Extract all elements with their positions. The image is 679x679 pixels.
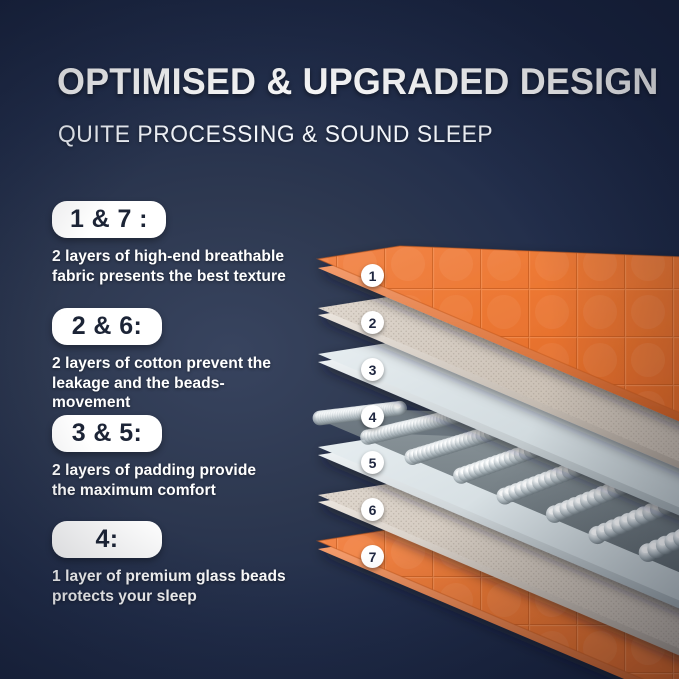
layer-description-4: 1 layer of premium glass beads protects …: [52, 567, 286, 606]
layer-label-pill-3: 3 & 5:: [52, 415, 162, 452]
layer-label-pill-1: 1 & 7 :: [52, 201, 166, 238]
layer-number-badge-4: 4: [361, 405, 384, 428]
page-subtitle: QUITE PROCESSING & SOUND SLEEP: [58, 120, 493, 150]
layer-label-pill-2: 2 & 6:: [52, 308, 162, 345]
layer-label-pill-4: 4:: [52, 521, 162, 558]
infographic-canvas: OPTIMISED & UPGRADED DESIGN QUITE PROCES…: [0, 0, 679, 679]
layer-description-2: 2 layers of cotton prevent the leakage a…: [52, 354, 302, 413]
layer-label-text: 4:: [95, 525, 118, 554]
layer-label-text: 3 & 5:: [72, 419, 142, 448]
layer-number-badge-6: 6: [361, 498, 384, 521]
layer-description-1: 2 layers of high-end breathable fabric p…: [52, 247, 286, 286]
layer-number-badge-5: 5: [361, 451, 384, 474]
info-block-1: 1 & 7 :2 layers of high-end breathable f…: [52, 201, 286, 286]
layer-label-text: 2 & 6:: [72, 312, 142, 341]
layer-number-badge-1: 1: [361, 264, 384, 287]
layer-number-badge-2: 2: [361, 311, 384, 334]
info-block-3: 3 & 5:2 layers of padding provide the ma…: [52, 415, 256, 500]
info-block-2: 2 & 6:2 layers of cotton prevent the lea…: [52, 308, 302, 413]
layer-number-badge-7: 7: [361, 545, 384, 568]
page-title: OPTIMISED & UPGRADED DESIGN: [57, 61, 658, 103]
info-block-4: 4:1 layer of premium glass beads protect…: [52, 521, 286, 606]
layer-label-text: 1 & 7 :: [70, 205, 148, 234]
layer-description-3: 2 layers of padding provide the maximum …: [52, 461, 256, 500]
layer-number-badge-3: 3: [361, 358, 384, 381]
